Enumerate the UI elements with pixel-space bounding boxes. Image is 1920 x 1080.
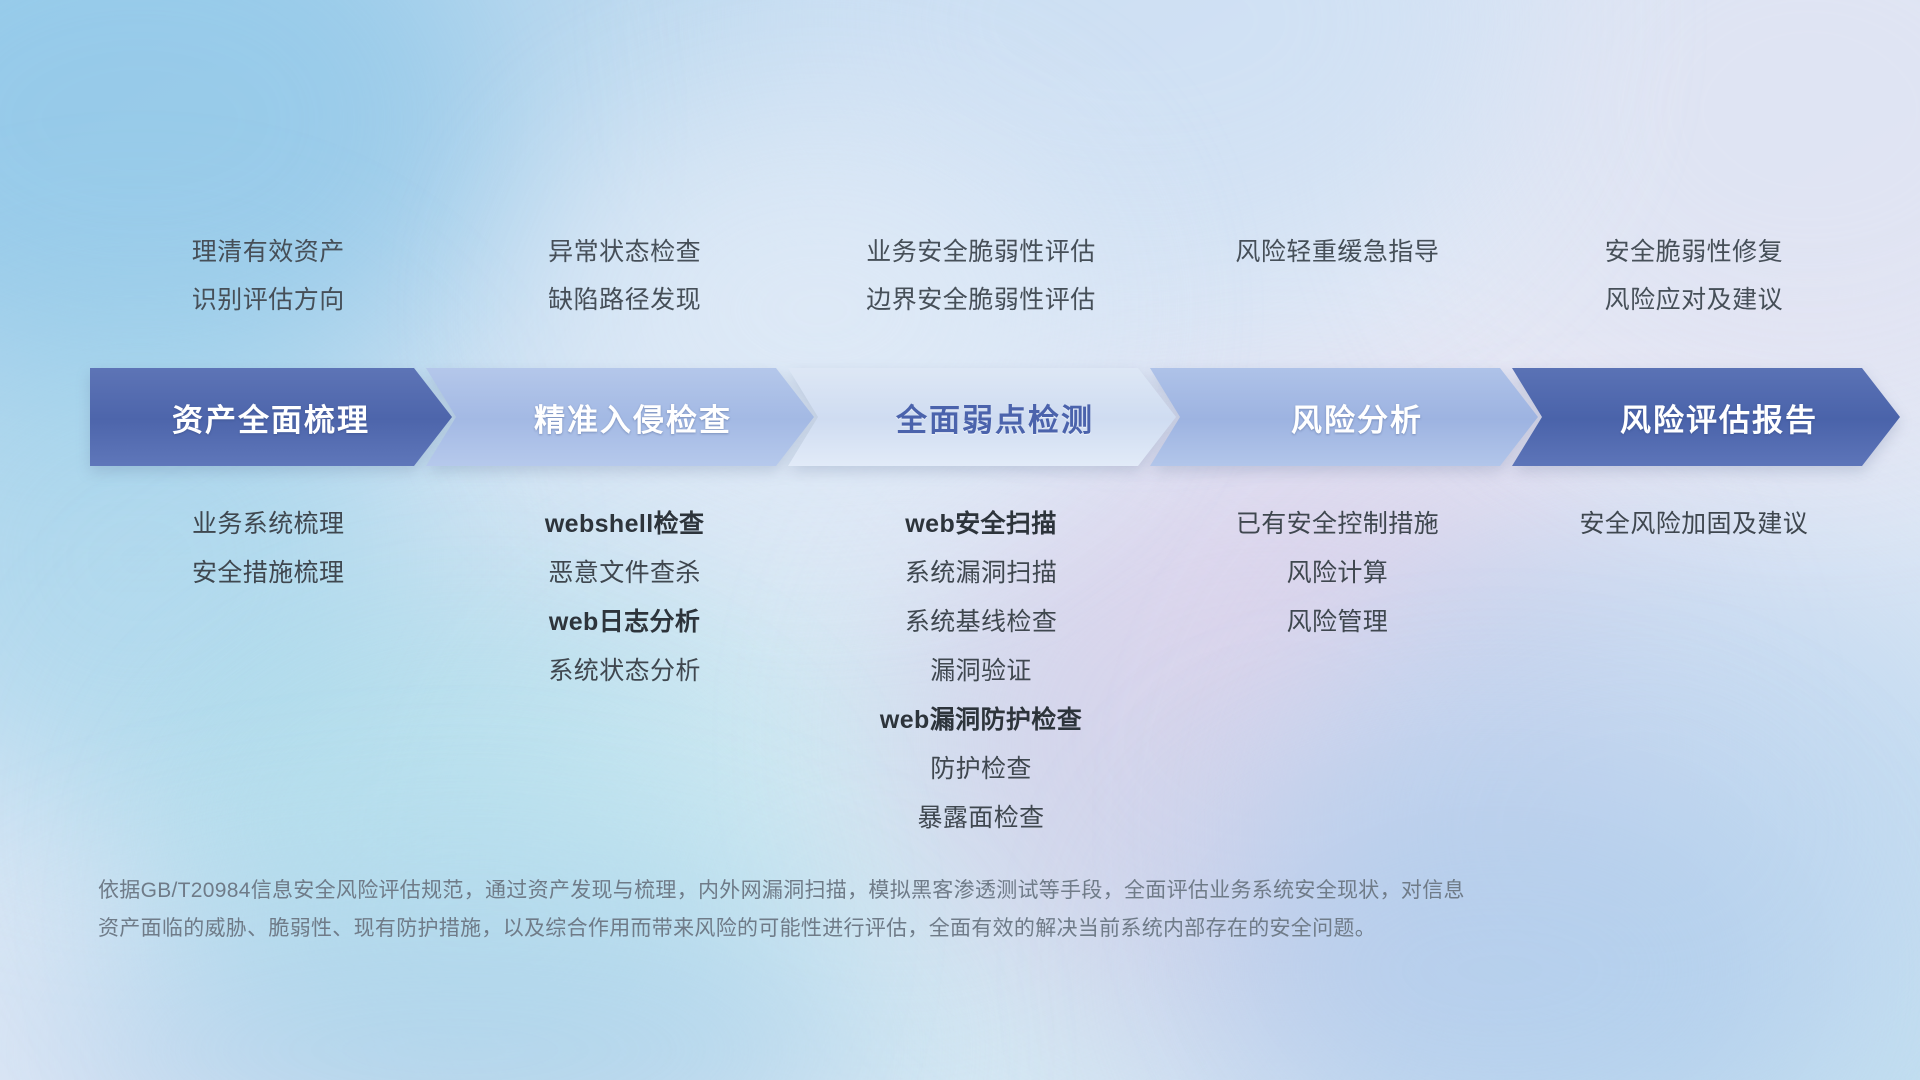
task-item: 安全风险加固及建议: [1522, 500, 1866, 549]
task-item: 系统基线检查: [809, 598, 1153, 647]
chevron-asset-inventory[interactable]: 资产全面梳理: [90, 368, 452, 466]
outcome-item: 理清有效资产: [98, 228, 438, 276]
stage-outcomes-row: 理清有效资产 识别评估方向 异常状态检查 缺陷路径发现 业务安全脆弱性评估 边界…: [90, 228, 1872, 324]
task-item: 风险计算: [1165, 549, 1509, 598]
outcome-item: 风险应对及建议: [1524, 276, 1864, 324]
task-item: web漏洞防护检查: [809, 696, 1153, 745]
task-item: 漏洞验证: [809, 647, 1153, 696]
outcome-item: 异常状态检查: [454, 228, 794, 276]
task-item: 系统漏洞扫描: [809, 549, 1153, 598]
stage-chevron-band: 资产全面梳理 精准入侵检查 全面弱点检测 风险分析 风险评估报告: [90, 368, 1874, 466]
outcome-item: 边界安全脆弱性评估: [811, 276, 1151, 324]
stage-outcomes-risk-analysis: 风险轻重缓急指导: [1159, 228, 1515, 324]
task-item: web日志分析: [452, 598, 796, 647]
chevron-label: 精准入侵检查: [534, 395, 732, 440]
chevron-weakness-detection[interactable]: 全面弱点检测: [788, 368, 1176, 466]
task-item: 防护检查: [809, 745, 1153, 794]
stage-tasks-intrusion-check: webshell检查 恶意文件查杀 web日志分析 系统状态分析: [446, 500, 802, 843]
stage-tasks-asset-inventory: 业务系统梳理 安全措施梳理: [90, 500, 446, 843]
outcome-item: 业务安全脆弱性评估: [811, 228, 1151, 276]
chevron-label: 风险分析: [1291, 395, 1423, 440]
footer-line-2: 资产面临的威胁、脆弱性、现有防护措施，以及综合作用而带来风险的可能性进行评估，全…: [98, 910, 1638, 948]
stage-outcomes-risk-report: 安全脆弱性修复 风险应对及建议: [1516, 228, 1872, 324]
stage-outcomes-intrusion-check: 异常状态检查 缺陷路径发现: [446, 228, 802, 324]
chevron-risk-analysis[interactable]: 风险分析: [1150, 368, 1538, 466]
outcome-item: 安全脆弱性修复: [1524, 228, 1864, 276]
task-item: webshell检查: [452, 500, 796, 549]
chevron-risk-report[interactable]: 风险评估报告: [1512, 368, 1900, 466]
outcome-item: 识别评估方向: [98, 276, 438, 324]
task-item: 恶意文件查杀: [452, 549, 796, 598]
stage-tasks-row: 业务系统梳理 安全措施梳理 webshell检查 恶意文件查杀 web日志分析 …: [90, 500, 1872, 843]
task-item: 暴露面检查: [809, 794, 1153, 843]
stage-outcomes-asset-inventory: 理清有效资产 识别评估方向: [90, 228, 446, 324]
stage-tasks-risk-analysis: 已有安全控制措施 风险计算 风险管理: [1159, 500, 1515, 843]
process-diagram: 理清有效资产 识别评估方向 异常状态检查 缺陷路径发现 业务安全脆弱性评估 边界…: [0, 0, 1920, 1080]
outcome-item: 缺陷路径发现: [454, 276, 794, 324]
chevron-label: 风险评估报告: [1620, 395, 1818, 440]
chevron-label: 资产全面梳理: [172, 395, 370, 440]
stage-outcomes-weakness-detection: 业务安全脆弱性评估 边界安全脆弱性评估: [803, 228, 1159, 324]
task-item: web安全扫描: [809, 500, 1153, 549]
chevron-label: 全面弱点检测: [896, 395, 1094, 440]
task-item: 已有安全控制措施: [1165, 500, 1509, 549]
footer-description: 依据GB/T20984信息安全风险评估规范，通过资产发现与梳理，内外网漏洞扫描，…: [98, 872, 1638, 948]
footer-line-1: 依据GB/T20984信息安全风险评估规范，通过资产发现与梳理，内外网漏洞扫描，…: [98, 872, 1638, 910]
task-item: 风险管理: [1165, 598, 1509, 647]
stage-tasks-weakness-detection: web安全扫描 系统漏洞扫描 系统基线检查 漏洞验证 web漏洞防护检查 防护检…: [803, 500, 1159, 843]
outcome-item: 风险轻重缓急指导: [1167, 228, 1507, 276]
stage-tasks-risk-report: 安全风险加固及建议: [1516, 500, 1872, 843]
task-item: 业务系统梳理: [96, 500, 440, 549]
task-item: 安全措施梳理: [96, 549, 440, 598]
task-item: 系统状态分析: [452, 647, 796, 696]
chevron-intrusion-check[interactable]: 精准入侵检查: [426, 368, 814, 466]
